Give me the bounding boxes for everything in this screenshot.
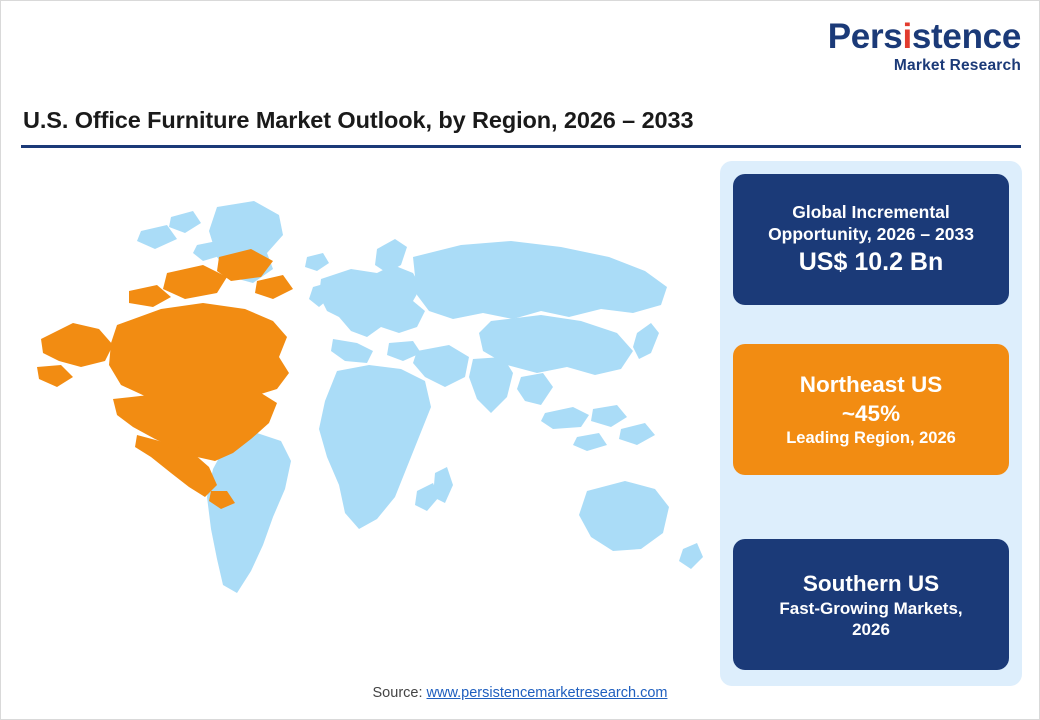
card-2-share: ~45% — [842, 399, 900, 428]
fast-growing-market-card: Southern US Fast-Growing Markets, 2026 — [733, 539, 1009, 670]
infographic-page: Persistence Market Research U.S. Office … — [0, 0, 1040, 720]
card-3-year: 2026 — [852, 619, 890, 640]
source-line: Source: www.persistencemarketresearch.co… — [1, 685, 1039, 701]
world-map-svg — [21, 161, 721, 671]
logo-brand-part1: Pers — [828, 17, 903, 56]
logo-brand-text: Persistence — [828, 19, 1021, 54]
page-title: U.S. Office Furniture Market Outlook, by… — [23, 107, 693, 134]
world-map — [21, 161, 721, 671]
title-divider — [21, 145, 1021, 148]
card-1-line1: Global Incremental — [792, 201, 950, 223]
logo-brand-part2: stence — [912, 17, 1021, 56]
card-2-caption: Leading Region, 2026 — [786, 428, 956, 449]
source-label: Source: — [373, 685, 427, 701]
global-incremental-opportunity-card: Global Incremental Opportunity, 2026 – 2… — [733, 174, 1009, 305]
leading-region-card: Northeast US ~45% Leading Region, 2026 — [733, 344, 1009, 475]
logo-subtitle: Market Research — [828, 58, 1021, 74]
card-3-region: Southern US — [803, 569, 939, 598]
card-3-caption: Fast-Growing Markets, — [779, 598, 962, 619]
highlight-panel: Global Incremental Opportunity, 2026 – 2… — [720, 161, 1022, 686]
source-link[interactable]: www.persistencemarketresearch.com — [427, 685, 668, 701]
logo-brand-dot: i — [902, 17, 911, 56]
card-2-region: Northeast US — [800, 370, 943, 399]
card-1-value: US$ 10.2 Bn — [799, 246, 944, 279]
company-logo: Persistence Market Research — [828, 19, 1021, 74]
card-1-line2: Opportunity, 2026 – 2033 — [768, 223, 974, 245]
